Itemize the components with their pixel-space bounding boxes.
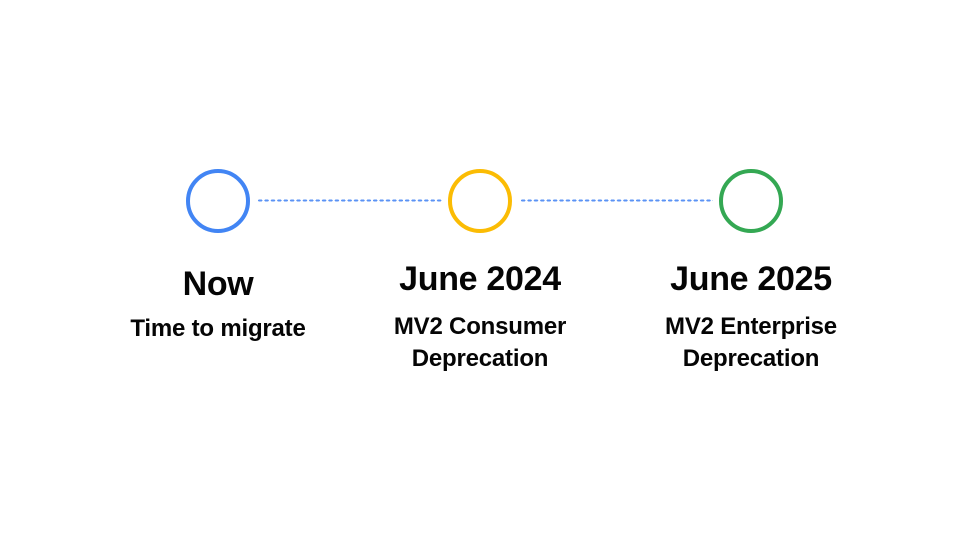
milestone-subtitle-line: Deprecation [591, 343, 911, 375]
timeline-marker-june-2025 [719, 169, 783, 233]
timeline-marker-june-2024 [448, 169, 512, 233]
timeline-diagram: Now Time to migrate June 2024 MV2 Consum… [0, 0, 960, 540]
milestone-june-2025: June 2025 MV2 Enterprise Deprecation [591, 259, 911, 375]
milestone-title-june-2025: June 2025 [591, 259, 911, 299]
milestone-subtitle-june-2025: MV2 Enterprise Deprecation [591, 299, 911, 375]
timeline-connector-june-2024-to-june-2025 [520, 199, 713, 202]
milestone-subtitle-line: MV2 Enterprise [591, 311, 911, 343]
timeline-marker-now [186, 169, 250, 233]
timeline-connector-now-to-june-2024 [257, 199, 443, 202]
